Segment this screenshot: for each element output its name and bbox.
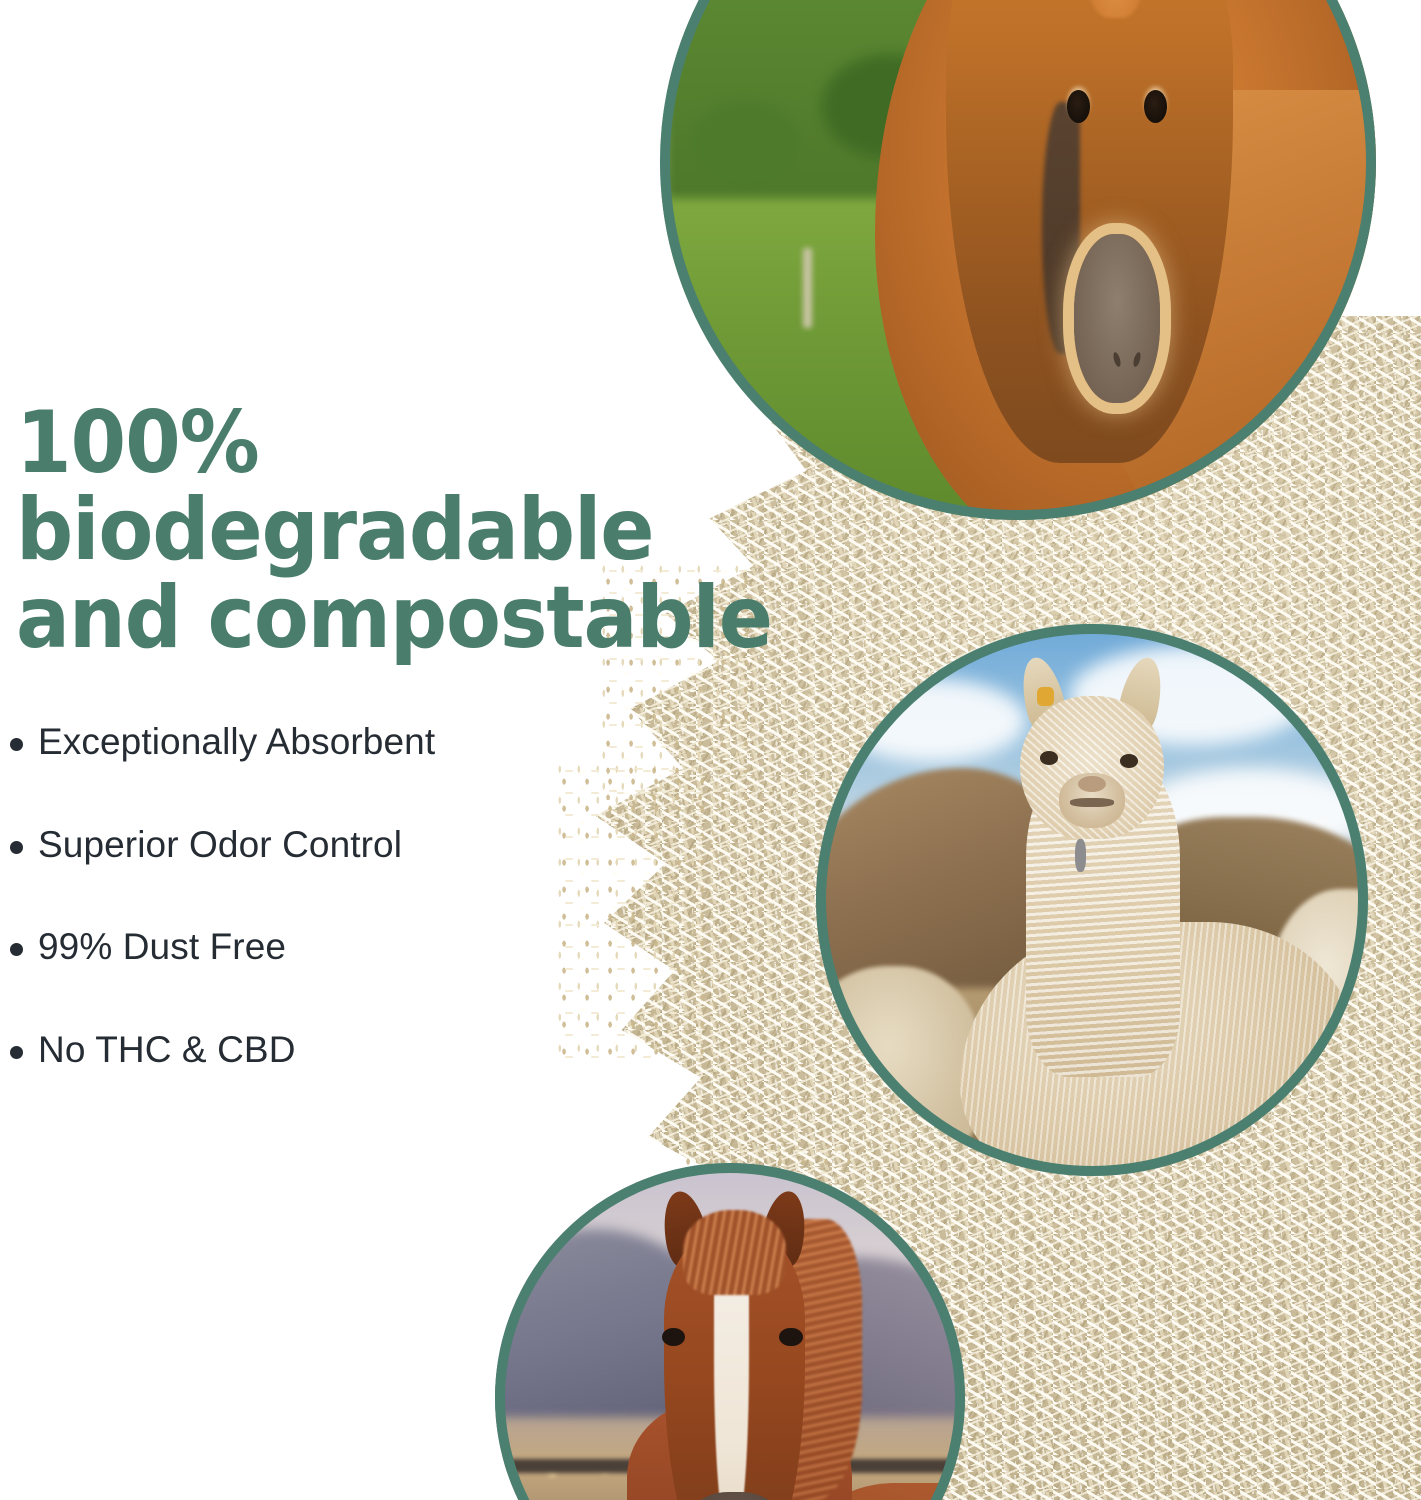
feature-item: Exceptionally Absorbent: [8, 722, 628, 763]
headline: 100% biodegradable and compostable: [16, 400, 834, 663]
alpaca-ear-tag: [1037, 687, 1055, 706]
cloud: [838, 679, 1026, 762]
feature-item: 99% Dust Free: [8, 927, 628, 968]
feature-list: Exceptionally Absorbent Superior Odor Co…: [8, 722, 628, 1071]
background-alpaca-left: [816, 966, 982, 1165]
horse-forelock: [683, 1210, 786, 1295]
cow-nostril-right: [1132, 351, 1142, 367]
feature-item: Superior Odor Control: [8, 825, 628, 866]
bullet-dot-icon: [10, 1046, 23, 1059]
alpaca-nose: [1078, 776, 1106, 793]
horse-photo: [495, 1163, 965, 1500]
feature-label: 99% Dust Free: [38, 926, 286, 967]
feature-item: No THC & CBD: [8, 1030, 628, 1071]
alpaca-mouth: [1070, 798, 1114, 807]
feature-label: Exceptionally Absorbent: [38, 721, 435, 762]
cow-forelock: [1084, 0, 1147, 18]
bullet-dot-icon: [10, 738, 23, 751]
bullet-dot-icon: [10, 841, 23, 854]
bullet-dot-icon: [10, 943, 23, 956]
cow-eye-left: [1067, 90, 1090, 123]
product-feature-panel: 100% biodegradable and compostable Excep…: [0, 0, 1421, 1500]
cow-nostril-left: [1112, 351, 1122, 367]
alpaca-neck-tassel: [1075, 839, 1086, 872]
feature-label: No THC & CBD: [38, 1029, 296, 1070]
fence-post: [803, 248, 812, 328]
cow-muzzle: [1074, 234, 1160, 402]
feature-label: Superior Odor Control: [38, 824, 402, 865]
alpaca-photo: [816, 624, 1368, 1176]
horse-eye-right: [779, 1328, 803, 1347]
cow-eye-right: [1144, 90, 1167, 123]
